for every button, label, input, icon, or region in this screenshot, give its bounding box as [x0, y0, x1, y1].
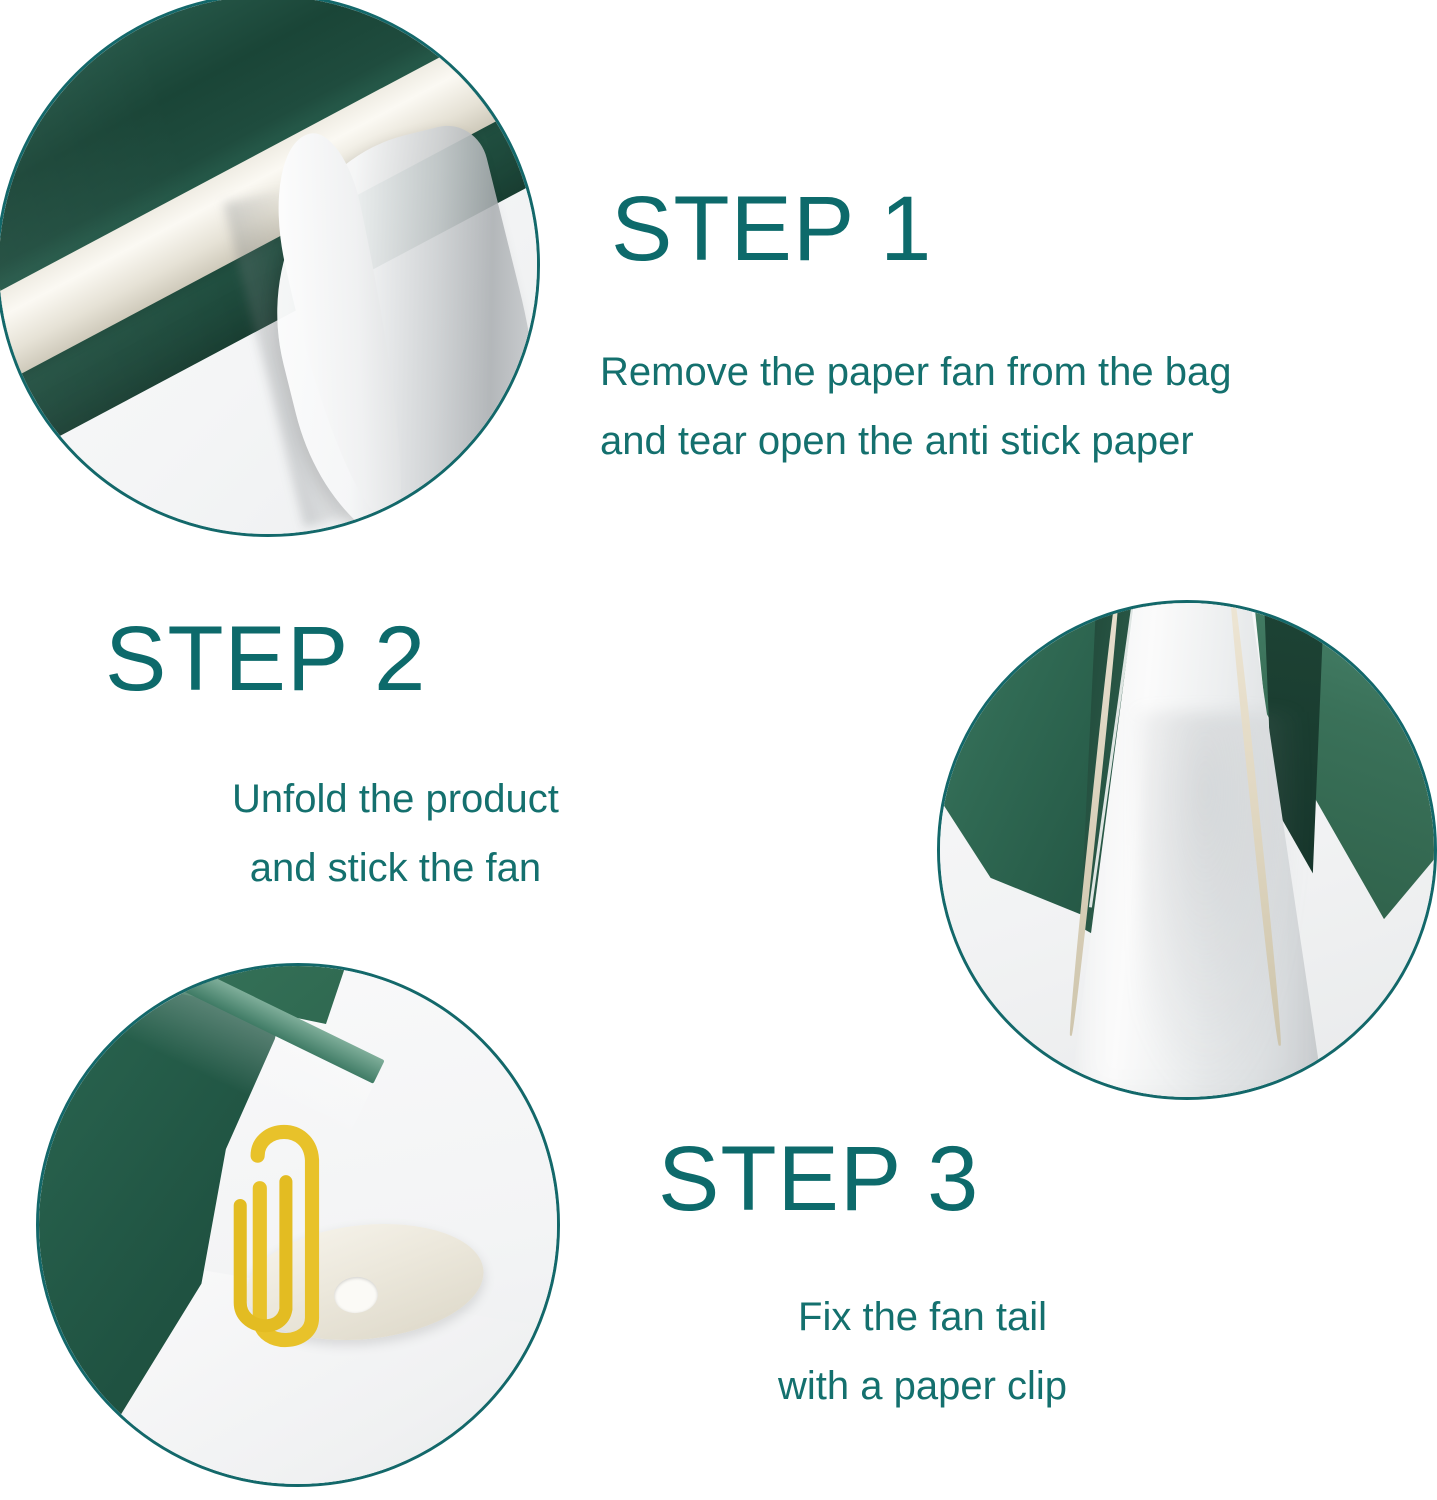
step-2-line-2: and stick the fan [232, 834, 559, 903]
step-3-description: Fix the fan tail with a paper clip [778, 1283, 1067, 1421]
step-2-description: Unfold the product and stick the fan [232, 765, 559, 903]
step-3-photo [36, 963, 560, 1487]
step-1-line-1: Remove the paper fan from the bag [600, 338, 1231, 407]
paper-clip-svg [225, 1106, 334, 1355]
step-2-line-1: Unfold the product [232, 765, 559, 834]
step-3-title: STEP 3 [658, 1133, 979, 1225]
step-1-title: STEP 1 [611, 183, 932, 275]
paper-clip-icon [225, 1106, 334, 1355]
step-2-title: STEP 2 [105, 613, 426, 705]
instruction-graphic: STEP 1 Remove the paper fan from the bag… [0, 0, 1437, 1500]
step-3-line-2: with a paper clip [778, 1352, 1067, 1421]
step-2-photo [937, 600, 1437, 1100]
step-1-description: Remove the paper fan from the bag and te… [600, 338, 1231, 476]
step-1-photo [0, 0, 540, 537]
step-1-line-2: and tear open the anti stick paper [600, 407, 1231, 476]
step-3-line-1: Fix the fan tail [778, 1283, 1067, 1352]
